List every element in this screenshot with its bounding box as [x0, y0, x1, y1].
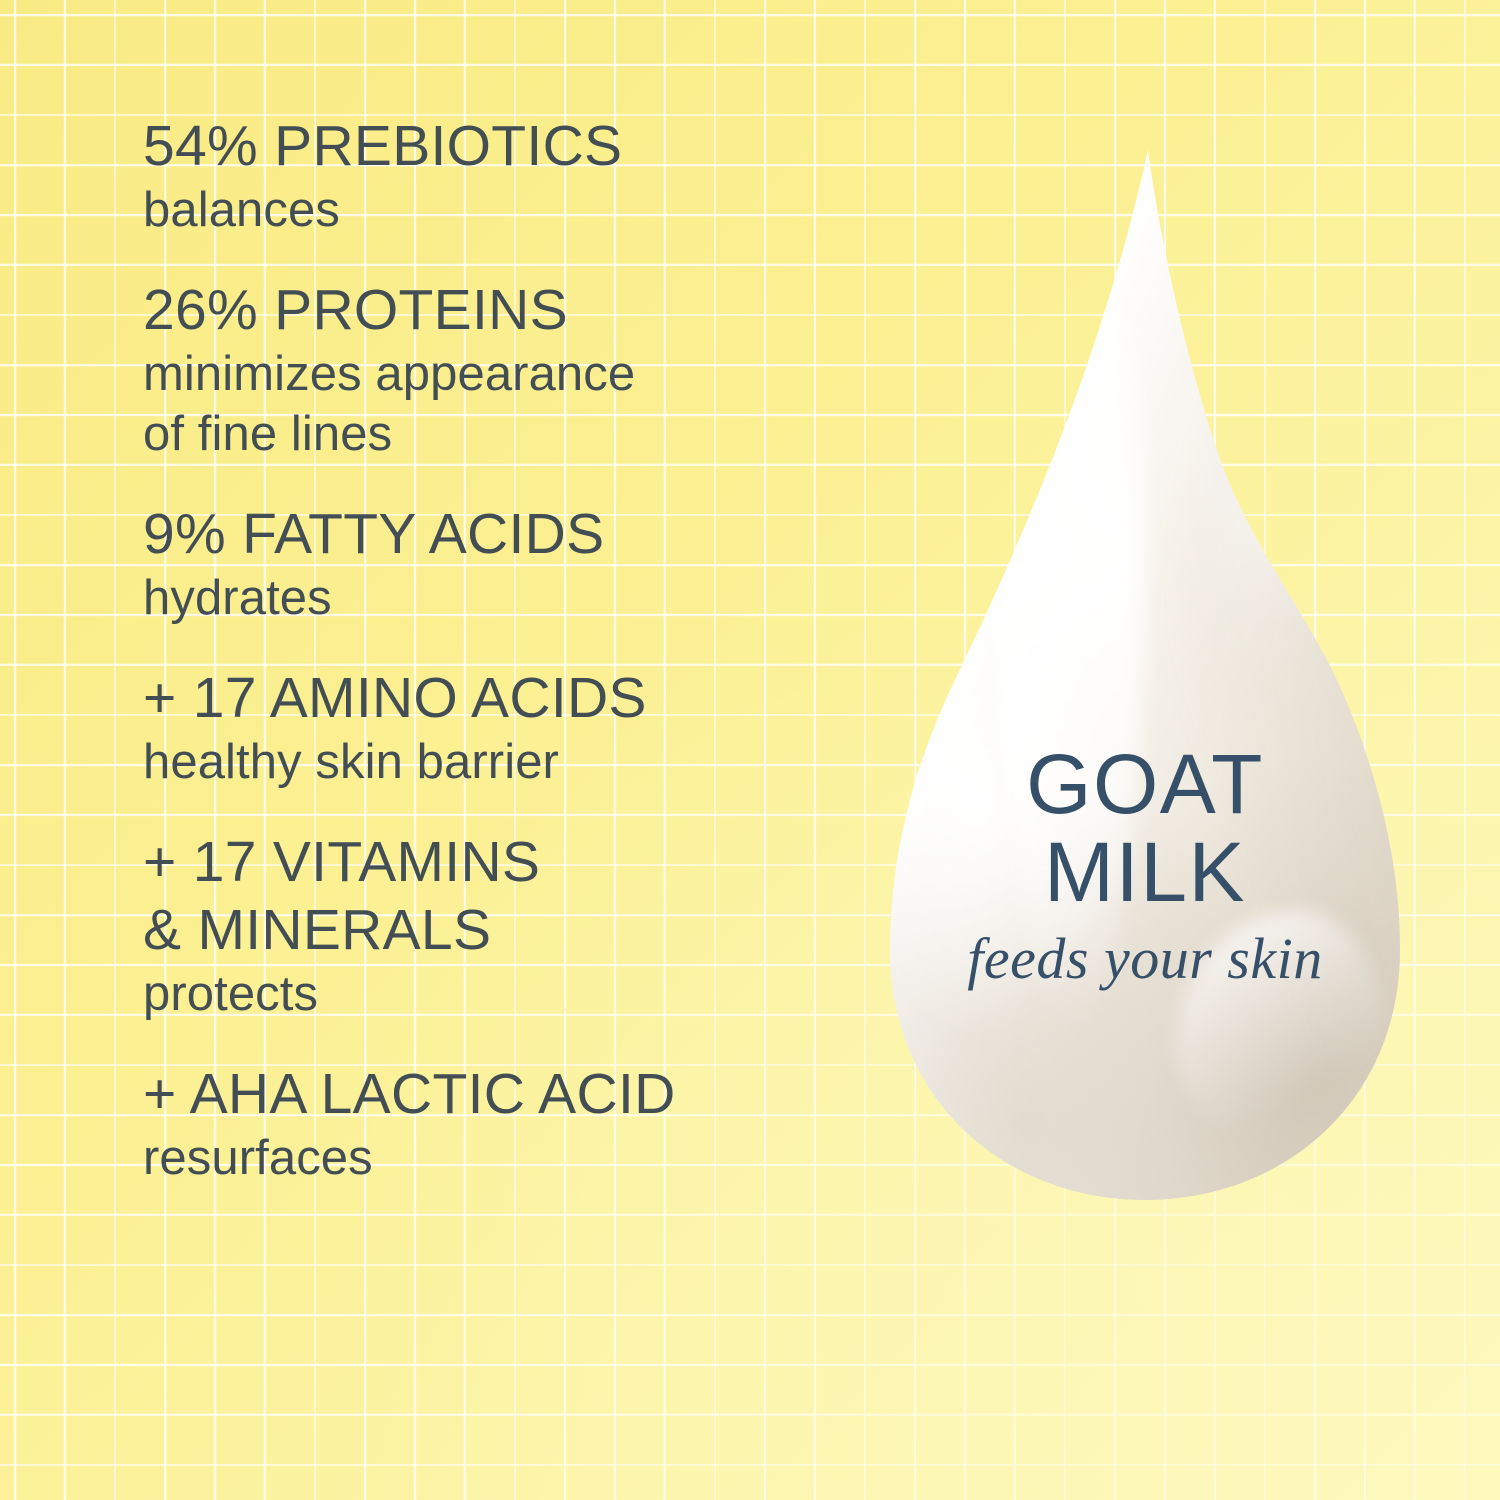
ingredient-item-aha-lactic-acid: + AHA LACTIC ACID resurfaces [143, 1060, 863, 1188]
ingredient-benefit: hydrates [143, 568, 863, 628]
ingredient-item-vitamins-minerals: + 17 VITAMINS & MINERALS protects [143, 828, 863, 1024]
droplet-shadow-edge [1175, 330, 1425, 1090]
milk-droplet-icon [845, 150, 1445, 1205]
ingredient-headline: + 17 VITAMINS & MINERALS [143, 828, 863, 964]
ingredient-benefit: resurfaces [143, 1128, 863, 1188]
ingredient-benefit: minimizes appearance of fine lines [143, 344, 863, 464]
droplet-body [845, 150, 1445, 1205]
ingredient-headline: 9% FATTY ACIDS [143, 500, 863, 568]
ingredient-headline: 54% PREBIOTICS [143, 112, 863, 180]
ingredient-headline: + 17 AMINO ACIDS [143, 664, 863, 732]
ingredient-item-prebiotics: 54% PREBIOTICS balances [143, 112, 863, 240]
ingredient-benefit: balances [143, 180, 863, 240]
ingredient-item-fatty-acids: 9% FATTY ACIDS hydrates [143, 500, 863, 628]
ingredient-benefit: protects [143, 964, 863, 1024]
ingredient-headline: 26% PROTEINS [143, 276, 863, 344]
ingredient-item-amino-acids: + 17 AMINO ACIDS healthy skin barrier [143, 664, 863, 792]
ingredient-list: 54% PREBIOTICS balances 26% PROTEINS min… [143, 112, 863, 1188]
droplet-crescent-highlight [1175, 910, 1385, 1140]
ingredient-benefit: healthy skin barrier [143, 732, 863, 792]
droplet-specular-highlight [995, 210, 1145, 1030]
infographic-canvas: 54% PREBIOTICS balances 26% PROTEINS min… [0, 0, 1500, 1500]
ingredient-headline: + AHA LACTIC ACID [143, 1060, 863, 1128]
ingredient-item-proteins: 26% PROTEINS minimizes appearance of fin… [143, 276, 863, 464]
